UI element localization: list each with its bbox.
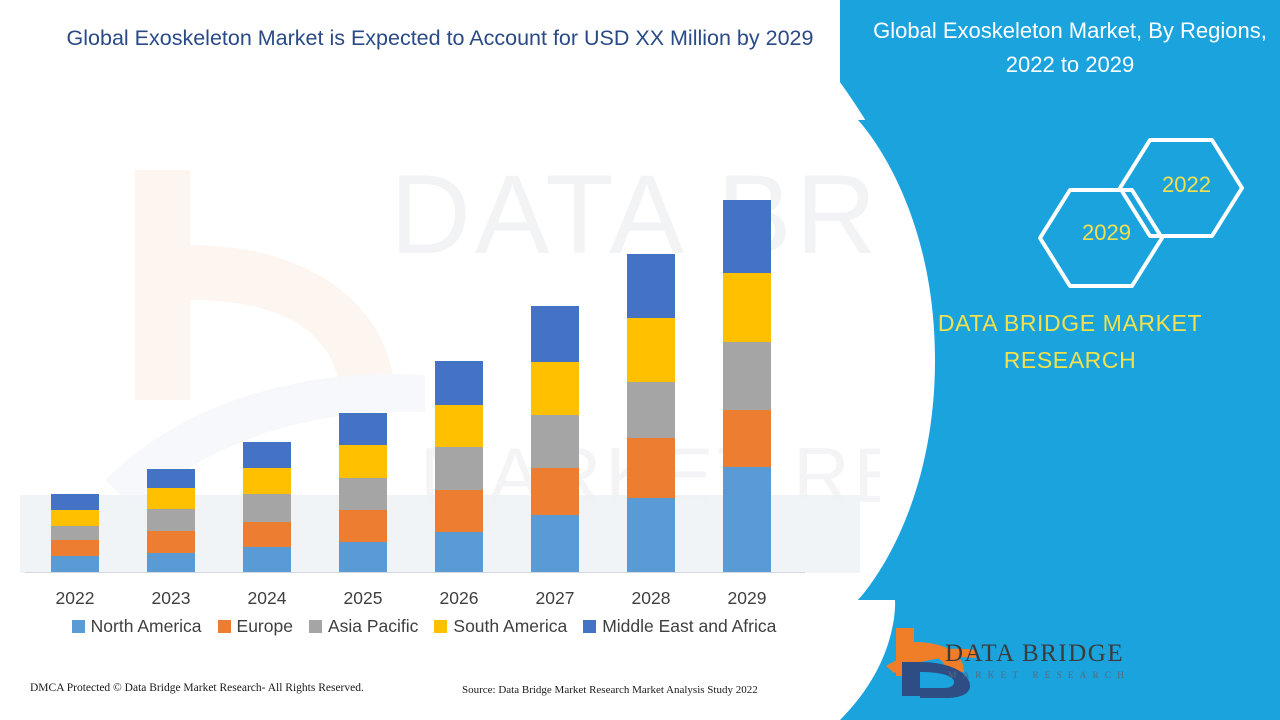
bar-segment[interactable]: [147, 531, 195, 553]
x-tick-2029: 2029: [702, 588, 792, 609]
bar-segment[interactable]: [243, 547, 291, 572]
bar-segment[interactable]: [723, 467, 771, 572]
bar-segment[interactable]: [627, 498, 675, 572]
bar-segment[interactable]: [339, 542, 387, 572]
bar-segment[interactable]: [243, 468, 291, 494]
bar-segment[interactable]: [723, 200, 771, 273]
legend-item[interactable]: Asia Pacific: [309, 616, 418, 637]
infographic-canvas: DATA BRIDGE MARKET RESEARCH Global Exosk…: [0, 0, 1280, 720]
legend-item[interactable]: Middle East and Africa: [583, 616, 776, 637]
legend-swatch-icon: [72, 620, 85, 633]
bar-segment[interactable]: [51, 526, 99, 540]
bar-segment[interactable]: [147, 469, 195, 488]
hexagon-2029-label: 2029: [1082, 220, 1131, 246]
bar-segment[interactable]: [723, 342, 771, 410]
panel-title: Global Exoskeleton Market, By Regions, 2…: [870, 14, 1270, 82]
bar-segment[interactable]: [51, 540, 99, 556]
bar-segment[interactable]: [435, 490, 483, 532]
footer-copyright: DMCA Protected © Data Bridge Market Rese…: [30, 682, 364, 694]
legend-label: Asia Pacific: [328, 616, 418, 637]
bar-segment[interactable]: [435, 405, 483, 447]
bar-segment[interactable]: [723, 410, 771, 467]
x-tick-2023: 2023: [126, 588, 216, 609]
legend-swatch-icon: [309, 620, 322, 633]
bar-segment[interactable]: [339, 413, 387, 445]
logo-wordmark: DATA BRIDGE: [945, 640, 1124, 668]
bar-2029[interactable]: [723, 200, 771, 572]
bar-segment[interactable]: [339, 478, 387, 510]
x-tick-2028: 2028: [606, 588, 696, 609]
chart-plot-area: 20222023202420252026202720282029: [0, 0, 880, 720]
legend-label: Middle East and Africa: [602, 616, 776, 637]
bar-segment[interactable]: [531, 306, 579, 362]
x-tick-2027: 2027: [510, 588, 600, 609]
bar-segment[interactable]: [627, 318, 675, 382]
bar-2026[interactable]: [435, 361, 483, 572]
bar-2028[interactable]: [627, 254, 675, 572]
bar-segment[interactable]: [627, 438, 675, 498]
x-axis-tick-labels: 20222023202420252026202720282029: [0, 588, 830, 616]
brand-name: DATA BRIDGE MARKET RESEARCH: [860, 305, 1280, 379]
x-tick-2026: 2026: [414, 588, 504, 609]
legend-swatch-icon: [218, 620, 231, 633]
brand-line1: DATA BRIDGE MARKET: [860, 305, 1280, 342]
bar-segment[interactable]: [531, 415, 579, 468]
bar-segment[interactable]: [627, 254, 675, 318]
legend-label: North America: [91, 616, 202, 637]
legend-label: Europe: [237, 616, 293, 637]
bar-segment[interactable]: [723, 273, 771, 342]
x-tick-2024: 2024: [222, 588, 312, 609]
bar-segment[interactable]: [51, 494, 99, 510]
bar-segment[interactable]: [51, 510, 99, 526]
legend-item[interactable]: North America: [72, 616, 202, 637]
bar-segment[interactable]: [531, 515, 579, 572]
bar-segment[interactable]: [243, 442, 291, 468]
bar-segment[interactable]: [435, 361, 483, 405]
hexagon-icons: [950, 130, 1270, 300]
legend-label: South America: [453, 616, 567, 637]
bar-segment[interactable]: [147, 488, 195, 509]
legend-swatch-icon: [583, 620, 596, 633]
bar-segment[interactable]: [435, 532, 483, 572]
bar-segment[interactable]: [531, 468, 579, 515]
logo-tagline: MARKET RESEARCH: [948, 671, 1130, 681]
bar-segment[interactable]: [435, 447, 483, 490]
legend-item[interactable]: South America: [434, 616, 567, 637]
bar-2022[interactable]: [51, 494, 99, 572]
hexagon-2022-label: 2022: [1162, 172, 1211, 198]
bar-segment[interactable]: [627, 382, 675, 438]
brand-line2: RESEARCH: [860, 342, 1280, 379]
bar-segment[interactable]: [147, 553, 195, 572]
footer-source: Source: Data Bridge Market Research Mark…: [462, 684, 758, 696]
brand-panel: Global Exoskeleton Market, By Regions, 2…: [840, 0, 1280, 720]
legend-item[interactable]: Europe: [218, 616, 293, 637]
bar-segment[interactable]: [339, 510, 387, 542]
bar-segment[interactable]: [51, 556, 99, 572]
chart-legend: North AmericaEuropeAsia PacificSouth Ame…: [0, 616, 848, 637]
legend-swatch-icon: [434, 620, 447, 633]
hexagon-group: 2022 2029: [950, 130, 1270, 290]
x-tick-2022: 2022: [30, 588, 120, 609]
bar-segment[interactable]: [243, 494, 291, 522]
x-axis-line: [25, 572, 805, 573]
bar-segment[interactable]: [147, 509, 195, 531]
bar-segment[interactable]: [531, 362, 579, 415]
bar-2025[interactable]: [339, 413, 387, 572]
bar-segment[interactable]: [339, 445, 387, 478]
bar-2023[interactable]: [147, 469, 195, 572]
bar-2027[interactable]: [531, 306, 579, 572]
x-tick-2025: 2025: [318, 588, 408, 609]
bar-segment[interactable]: [243, 522, 291, 547]
bar-2024[interactable]: [243, 442, 291, 572]
